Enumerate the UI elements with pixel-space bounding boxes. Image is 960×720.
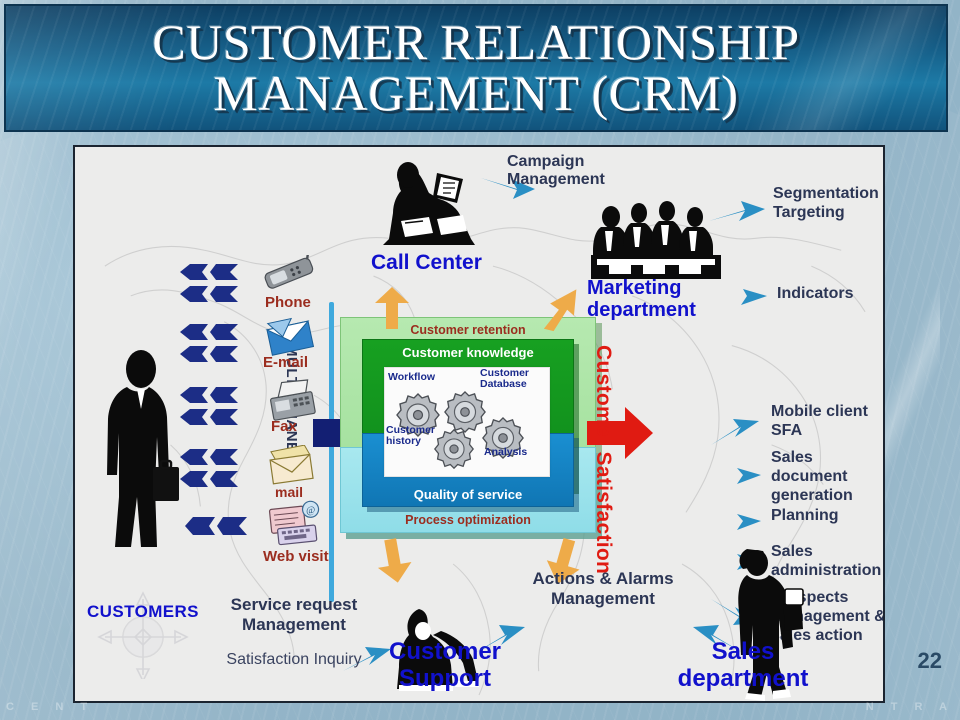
core-label-process: Process optimization bbox=[405, 513, 531, 527]
sales-output-label-2: Planning bbox=[771, 507, 885, 526]
core-label-history: Customer history bbox=[386, 425, 440, 447]
core-label-quality: Quality of service bbox=[414, 487, 522, 502]
arrow-mail-to-customer bbox=[180, 447, 252, 489]
compass-rose-icon bbox=[97, 587, 189, 679]
arrow-support-to-actions bbox=[475, 625, 527, 657]
footer-watermark-left: C E N T bbox=[6, 701, 94, 713]
phone-icon bbox=[260, 255, 320, 297]
arrow-to-mobile-client-sfa bbox=[711, 419, 761, 449]
arrow-to-sales-document-generation bbox=[711, 467, 763, 487]
channel-label-web-visit: Web visit bbox=[263, 549, 329, 566]
channel-label-phone: Phone bbox=[265, 295, 311, 312]
arrow-phone-to-customer bbox=[180, 262, 252, 304]
campaign-management-label: Campaign Management bbox=[507, 153, 647, 189]
arrow-email-to-customer bbox=[180, 322, 252, 364]
customer-silhouette-icon bbox=[97, 347, 187, 557]
customers-label: CUSTOMERS bbox=[87, 602, 199, 621]
arrow-core-to-marketing bbox=[545, 287, 583, 333]
satisfaction-inquiry-label: Satisfaction Inquiry bbox=[199, 651, 389, 669]
crm-core: Customer retention Process optimization … bbox=[340, 317, 596, 533]
call-center-agent-icon bbox=[375, 159, 485, 251]
arrow-to-planning bbox=[711, 513, 763, 533]
arrow-core-to-customer-support bbox=[377, 539, 411, 583]
core-label-database: Customer Database bbox=[480, 368, 544, 390]
core-label-workflow: Workflow bbox=[388, 372, 435, 383]
arrow-marketing-to-indicators bbox=[713, 287, 769, 309]
page-number: 22 bbox=[918, 648, 942, 674]
slide: CUSTOMER RELATIONSHIP MANAGEMENT (CRM) bbox=[0, 0, 960, 720]
title-banner: CUSTOMER RELATIONSHIP MANAGEMENT (CRM) bbox=[4, 4, 948, 132]
channel-label-email: E-mail bbox=[263, 355, 308, 372]
sales-output-label-0: Mobile client SFA bbox=[771, 403, 885, 441]
page-title: CUSTOMER RELATIONSHIP MANAGEMENT (CRM) bbox=[6, 17, 946, 120]
arrow-web-to-customer bbox=[185, 515, 257, 537]
service-request-label: Service request Management bbox=[199, 595, 389, 634]
arrow-core-to-call-center bbox=[375, 287, 409, 329]
call-center-label: Call Center bbox=[371, 251, 482, 275]
sales-output-label-1: Sales document generation bbox=[771, 449, 885, 506]
arrow-fax-to-customer bbox=[180, 385, 252, 427]
actions-alarms-label: Actions & Alarms Management bbox=[503, 569, 703, 608]
channel-label-fax: Fax bbox=[271, 419, 297, 436]
web-visit-icon: @ bbox=[265, 499, 325, 549]
segmentation-targeting-label: Segmentation Targeting bbox=[773, 185, 885, 223]
email-icon bbox=[265, 317, 317, 357]
core-label-retention: Customer retention bbox=[410, 323, 525, 337]
svg-text:@: @ bbox=[306, 505, 316, 517]
footer-watermark: C E N T N T R A bbox=[0, 696, 960, 718]
customer-satisfaction-label: Customer Satisfaction bbox=[591, 345, 615, 574]
indicators-label: Indicators bbox=[777, 285, 853, 303]
core-label-knowledge: Customer knowledge bbox=[402, 345, 533, 360]
arrow-marketing-to-segmentation bbox=[709, 199, 767, 225]
sales-department-label: Sales department bbox=[663, 639, 823, 693]
footer-watermark-right: N T R A bbox=[866, 701, 954, 713]
core-label-analysis: Analysis bbox=[484, 447, 527, 458]
marketing-team-icon bbox=[591, 195, 721, 285]
crm-diagram: MULTI-CHANEL CUSTOMERS bbox=[73, 145, 885, 703]
